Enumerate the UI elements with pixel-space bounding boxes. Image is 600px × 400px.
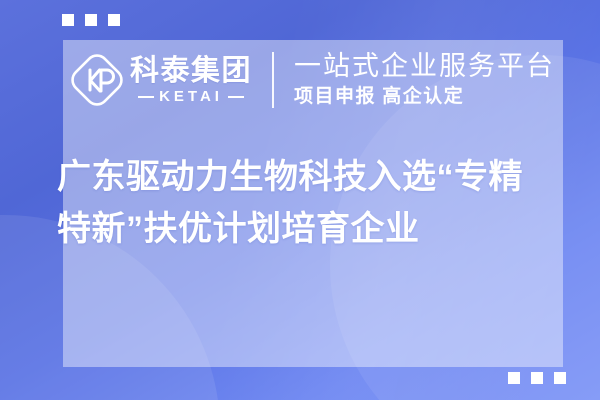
rule-left xyxy=(138,96,154,98)
brand-name-en-row: KETAI xyxy=(130,89,252,104)
brand-wordmark: 科泰集团 KETAI xyxy=(130,56,252,104)
tagline-sub: 项目申报 高企认定 xyxy=(294,86,555,109)
brand-logo[interactable]: 科泰集团 KETAI xyxy=(71,54,252,106)
decor-dots-bottom-right xyxy=(508,372,566,384)
brand-name-cn: 科泰集团 xyxy=(130,56,252,86)
ketai-kp-monogram-icon xyxy=(71,54,123,106)
headline-title: 广东驱动力生物科技入选“专精特新”扶优计划培育企业 xyxy=(57,152,557,255)
square-dot-icon xyxy=(554,372,566,384)
tagline: 一站式企业服务平台 项目申报 高企认定 xyxy=(294,51,555,108)
promo-banner: 科泰集团 KETAI 一站式企业服务平台 项目申报 高企认定 广东驱动力生物科技… xyxy=(0,0,600,400)
square-dot-icon xyxy=(62,14,74,26)
decor-dots-top-left xyxy=(62,14,120,26)
square-dot-icon xyxy=(108,14,120,26)
rule-right xyxy=(228,96,244,98)
square-dot-icon xyxy=(85,14,97,26)
header-divider xyxy=(272,52,274,108)
square-dot-icon xyxy=(508,372,520,384)
tagline-main: 一站式企业服务平台 xyxy=(294,51,555,81)
banner-header: 科泰集团 KETAI 一站式企业服务平台 项目申报 高企认定 xyxy=(63,44,563,116)
square-dot-icon xyxy=(531,372,543,384)
brand-name-en: KETAI xyxy=(159,89,223,104)
